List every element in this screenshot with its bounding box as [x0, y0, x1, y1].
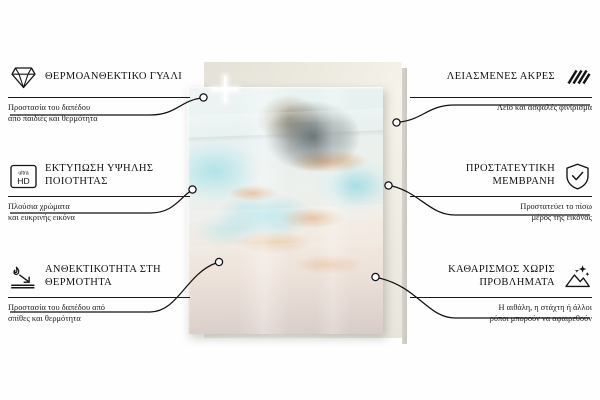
- feature-description: Προστασία του δαπέδου από παιδιές και θε…: [8, 102, 190, 124]
- ultra-hd-icon: ultra HD: [8, 161, 38, 191]
- feature-description: Πλούσια χρώματα και ευκρινής εικόνα: [8, 201, 190, 223]
- feature-description: Προστατεύει το πίσω μέρος της εικόνας: [410, 201, 592, 223]
- feature-header: ΑΝΘΕΚΤΙΚΟΤΗΤΑ ΣΤΗ ΘΕΡΜΟΤΗΤΑ: [8, 262, 190, 292]
- feature-high-quality-print: ultra HD ΕΚΤΥΠΩΣΗ ΥΨΗΛΗΣ ΠΟΙΟΤΗΤΑΣ Πλούσ…: [8, 161, 190, 223]
- easy-clean-icon: [562, 262, 592, 292]
- glass-edge-highlight: [187, 87, 383, 89]
- glass-reflection: [187, 203, 383, 229]
- product-image: [168, 40, 432, 370]
- feature-description: Λείο και ασφαλές φινίρισμα: [410, 102, 592, 113]
- polished-edges-icon: [562, 62, 592, 92]
- feature-header: ultra HD ΕΚΤΥΠΩΣΗ ΥΨΗΛΗΣ ΠΟΙΟΤΗΤΑΣ: [8, 161, 190, 191]
- shield-check-icon: [562, 161, 592, 191]
- glass-reflection: [316, 87, 350, 334]
- divider: [410, 196, 592, 197]
- feature-header: ΚΑΘΑΡΙΣΜΟΣ ΧΩΡΙΣ ΠΡΟΒΛΗΜΑΤΑ: [410, 262, 592, 292]
- divider: [410, 297, 592, 298]
- feature-header: ΠΡΟΣΤΑΤΕΥΤΙΚΗ ΜΕΜΒΡΑΝΗ: [410, 161, 592, 191]
- feature-heat-resistant-glass: ΘΕΡΜΟΑΝΘΕΚΤΙΚΟ ΓΥΑΛΙ Προστασία του δαπέδ…: [8, 62, 190, 124]
- feature-title: ΚΑΘΑΡΙΣΜΟΣ ΧΩΡΙΣ ΠΡΟΒΛΗΜΑΤΑ: [410, 264, 555, 289]
- feature-polished-edges: ΛΕΙΑΣΜΕΝΕΣ ΑΚΡΕΣ Λείο και ασφαλές φινίρι…: [410, 62, 592, 113]
- glass-reflection: [187, 129, 383, 144]
- divider: [8, 196, 190, 197]
- glass-reflection: [187, 238, 383, 256]
- feature-title: ΘΕΡΜΟΑΝΘΕΚΤΙΚΟ ΓΥΑΛΙ: [45, 71, 190, 84]
- glass-panel: [187, 87, 383, 334]
- glass-reflection: [238, 87, 290, 334]
- feature-easy-cleaning: ΚΑΘΑΡΙΣΜΟΣ ΧΩΡΙΣ ΠΡΟΒΛΗΜΑΤΑ Η αιθάλη, η …: [410, 262, 592, 324]
- feature-description: Η αιθάλη, η στάχτη ή άλλοι ρύποι μπορούν…: [410, 302, 592, 324]
- feature-header: ΛΕΙΑΣΜΕΝΕΣ ΑΚΡΕΣ: [410, 62, 592, 92]
- feature-title: ΕΚΤΥΠΩΣΗ ΥΨΗΛΗΣ ΠΟΙΟΤΗΤΑΣ: [45, 163, 190, 188]
- feature-heat-resistance: ΑΝΘΕΚΤΙΚΟΤΗΤΑ ΣΤΗ ΘΕΡΜΟΤΗΤΑ Προστασία το…: [8, 262, 190, 324]
- feature-title: ΑΝΘΕΚΤΙΚΟΤΗΤΑ ΣΤΗ ΘΕΡΜΟΤΗΤΑ: [45, 264, 190, 289]
- feature-description: Προστασία του δαπέδου από σπίθες και θερ…: [8, 302, 190, 324]
- feature-header: ΘΕΡΜΟΑΝΘΕΚΤΙΚΟ ΓΥΑΛΙ: [8, 62, 190, 92]
- divider: [8, 97, 190, 98]
- divider: [410, 97, 592, 98]
- heat-resistance-icon: [8, 262, 38, 292]
- glass-reflection: [187, 107, 383, 128]
- feature-title: ΠΡΟΣΤΑΤΕΥΤΙΚΗ ΜΕΜΒΡΑΝΗ: [410, 163, 555, 188]
- product-feature-infographic: ΘΕΡΜΟΑΝΘΕΚΤΙΚΟ ΓΥΑΛΙ Προστασία του δαπέδ…: [0, 0, 600, 400]
- divider: [8, 297, 190, 298]
- svg-text:HD: HD: [17, 175, 29, 185]
- diamond-icon: [8, 62, 38, 92]
- feature-protective-membrane: ΠΡΟΣΤΑΤΕΥΤΙΚΗ ΜΕΜΒΡΑΝΗ Προστατεύει το πί…: [410, 161, 592, 223]
- feature-title: ΛΕΙΑΣΜΕΝΕΣ ΑΚΡΕΣ: [410, 71, 555, 84]
